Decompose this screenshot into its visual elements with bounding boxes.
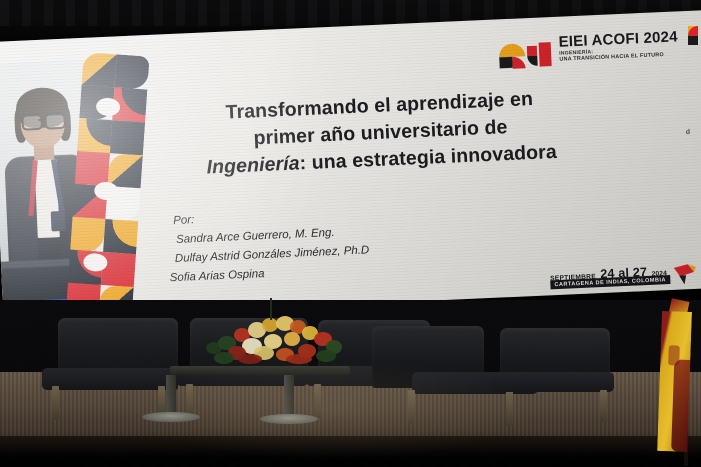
chair-leg [506,390,513,426]
slide-title-italic-word: Ingeniería [206,152,300,178]
pattern-cell [103,219,138,254]
table-leg [284,375,294,415]
table-leg [166,375,176,415]
acofi-logo-icon [496,37,553,69]
chair-leg [314,384,321,418]
table-base [260,414,318,424]
flower [316,350,336,362]
flower [214,352,234,364]
stage-chair-seat [490,372,614,392]
pattern-cell [101,252,136,287]
slide-title: Transformando el aprendizaje en primer a… [144,82,617,184]
chair-leg [52,386,59,420]
glasses-right-lens-icon [44,113,66,130]
flag-fold [671,359,690,452]
event-logo-block: EIEI ACOFI 2024 INGENIERÍA: UNA TRANSICI… [496,25,698,76]
projection-screen: Transformando el aprendizaje en primer a… [0,10,701,320]
screen-edge-logo-icon [688,22,701,48]
flower-stem [270,298,272,320]
floral-arrangement [198,312,358,370]
ribbon-icon [672,263,699,286]
glasses-bridge-icon [39,119,46,121]
event-date-block: SEPTIEMBRE 24 al 27 2024 CARTAGENA DE IN… [550,260,701,301]
pattern-cell [77,118,112,153]
projection-screen-wrap: Transformando el aprendizaje en primer a… [0,0,701,318]
flower [286,354,312,364]
pattern-cell [75,151,110,186]
authors-block: Por: Sandra Arce Guerrero, M. Eng. Dulfa… [167,199,470,288]
screen-edge-artifact: d [686,129,691,136]
pattern-cell [110,120,145,155]
stage-chair-seat [42,368,177,390]
pattern-cell [70,217,105,252]
glasses-left-lens-icon [21,114,43,131]
table-base [142,412,200,422]
flower [284,332,300,346]
event-title: EIEI ACOFI 2024 [558,28,678,50]
chair-leg [408,390,415,424]
flower [238,354,262,364]
pattern-cell [114,54,149,89]
stage-front-edge [0,436,701,467]
speaker-badge [51,211,66,232]
conference-photo-scene: Transformando el aprendizaje en primer a… [0,0,701,467]
flag [657,311,692,452]
chair-leg [600,390,607,422]
pattern-cell [82,52,117,87]
